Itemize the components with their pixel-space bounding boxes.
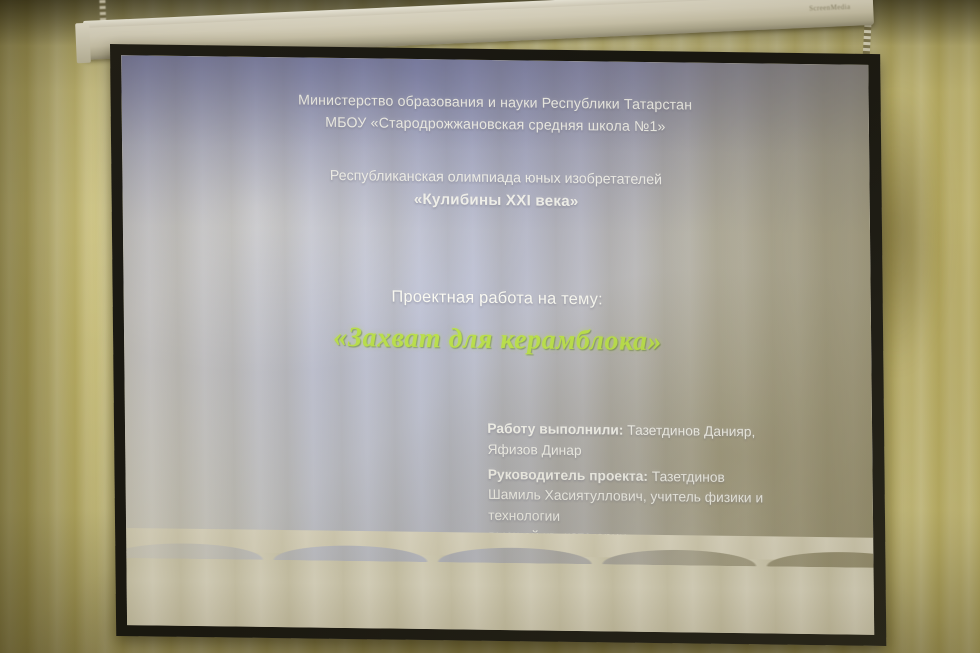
supervisor-value: Тазетдинов bbox=[652, 469, 725, 485]
performers-value: Тазетдинов Данияр, bbox=[627, 423, 755, 440]
organization-block: Министерство образования и науки Республ… bbox=[121, 88, 869, 141]
project-title: «Захват для керамблока» bbox=[124, 319, 871, 361]
performers-label: Работу выполнили: bbox=[487, 421, 623, 438]
performers-line-2: Яфизов Динар bbox=[487, 440, 835, 465]
supervisor-label: Руководитель проекта: bbox=[488, 467, 648, 484]
projector-screen-photo: ScreenMedia Министерство образования и н… bbox=[0, 0, 980, 653]
olympiad-block: Республиканская олимпиада юных изобретат… bbox=[122, 162, 870, 217]
screen-surface: Министерство образования и науки Республ… bbox=[121, 55, 874, 635]
housing-end-cap bbox=[75, 23, 91, 64]
authors-block: Работу выполнили: Тазетдинов Данияр, Яфи… bbox=[487, 419, 836, 550]
project-topic-label: Проектная работа на тему: bbox=[124, 284, 871, 313]
slide-text-layer: Министерство образования и науки Республ… bbox=[121, 55, 873, 567]
projection-screen: Министерство образования и науки Республ… bbox=[110, 44, 886, 646]
projected-slide: Министерство образования и науки Республ… bbox=[121, 55, 873, 567]
supervisor-line-4: высшей кв. категории bbox=[488, 526, 836, 551]
